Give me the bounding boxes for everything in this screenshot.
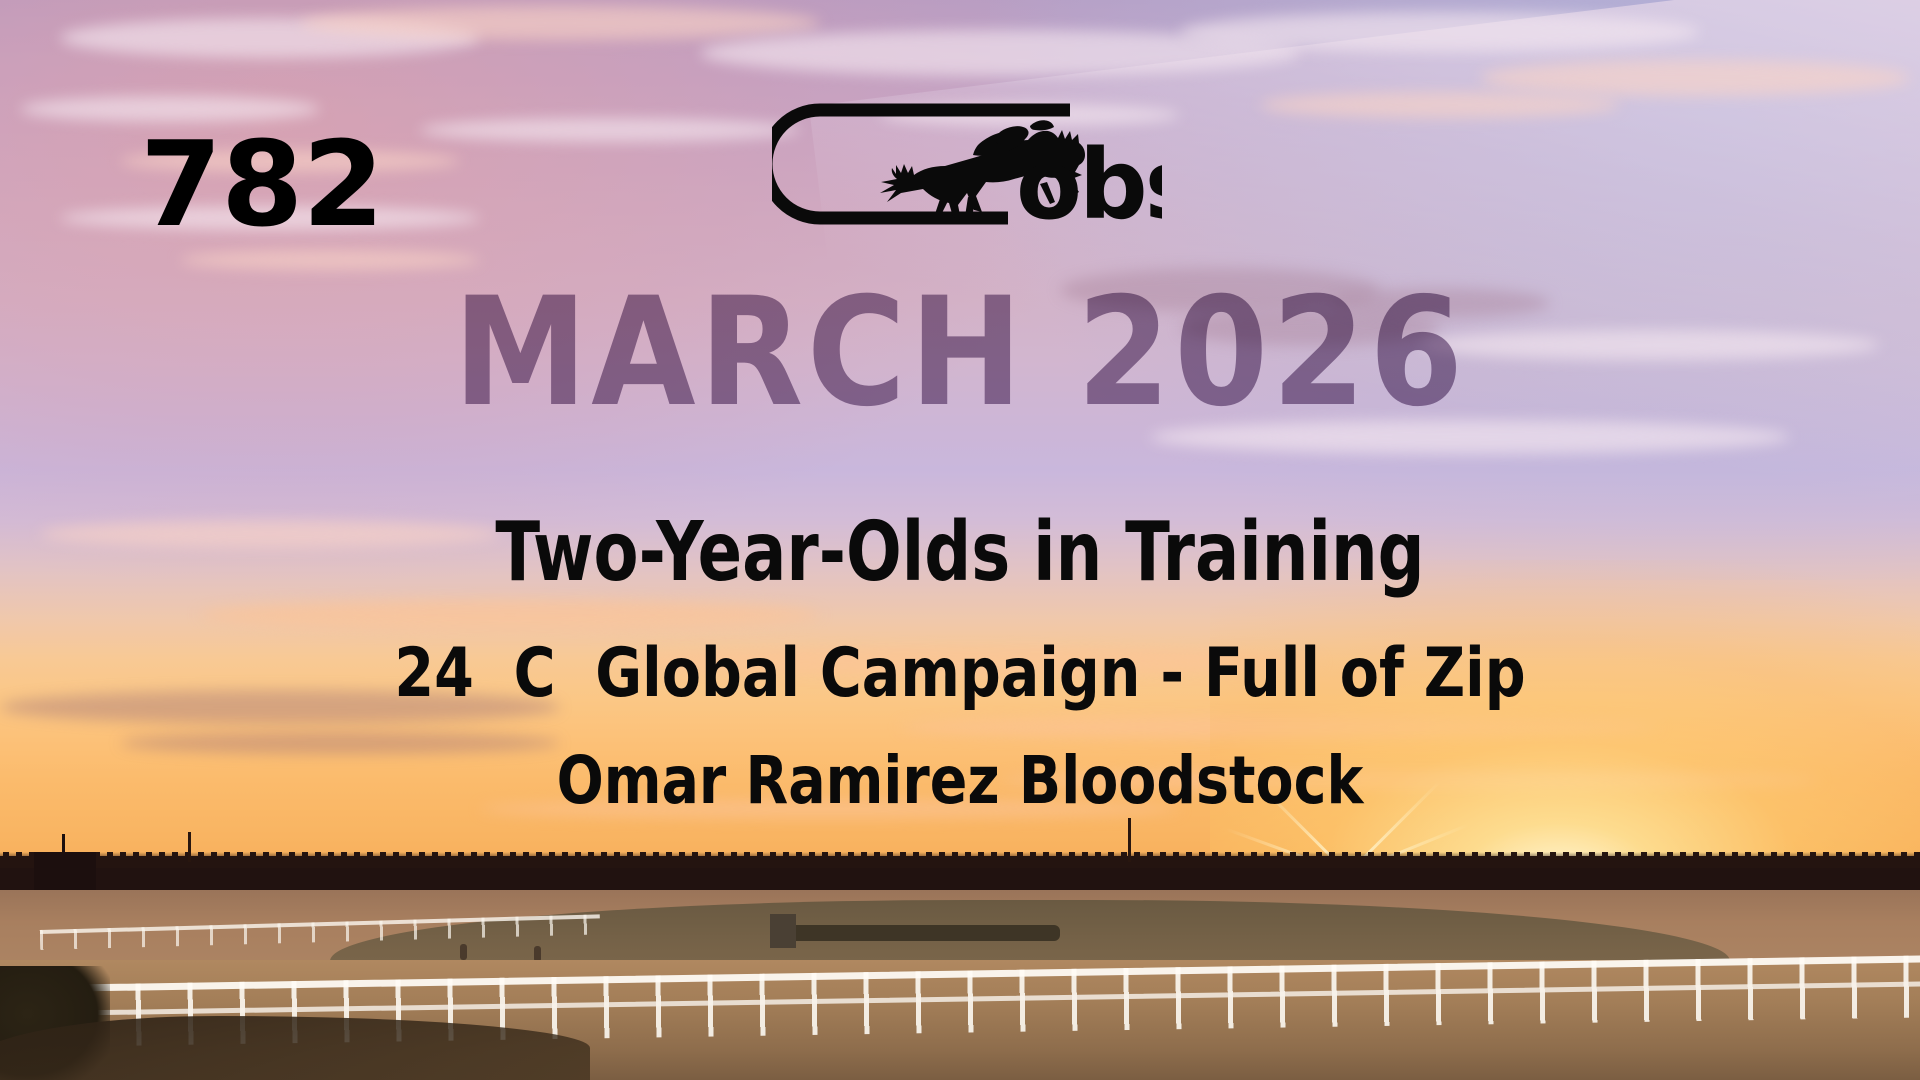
consignor-name: Omar Ramirez Bloodstock	[154, 748, 1767, 814]
sale-catalog-slide: 782 obs	[0, 0, 1920, 1080]
light-pole	[188, 832, 191, 862]
cloud-streak	[1260, 92, 1620, 118]
sale-month-year: MARCH 2026	[96, 278, 1824, 428]
cloud-streak	[180, 250, 480, 270]
cloud-streak	[200, 600, 820, 630]
tote-board-pole	[62, 834, 65, 856]
hip-number: 782	[140, 125, 383, 243]
cloud-streak	[1180, 12, 1700, 52]
cloud-streak	[420, 118, 800, 142]
inner-rail	[40, 930, 600, 956]
cloud-streak	[300, 6, 820, 40]
pedigree-line: 24 C Global Campaign - Full of Zip	[154, 640, 1767, 708]
sale-type-title: Two-Year-Olds in Training	[192, 512, 1728, 594]
light-pole	[1128, 818, 1131, 862]
obs-logo: obs	[772, 96, 1162, 236]
infield-hedge	[770, 925, 1060, 941]
obs-wordmark-text: obs	[1016, 129, 1162, 236]
track-gap-marker	[770, 914, 796, 948]
cloud-streak	[1480, 60, 1910, 96]
